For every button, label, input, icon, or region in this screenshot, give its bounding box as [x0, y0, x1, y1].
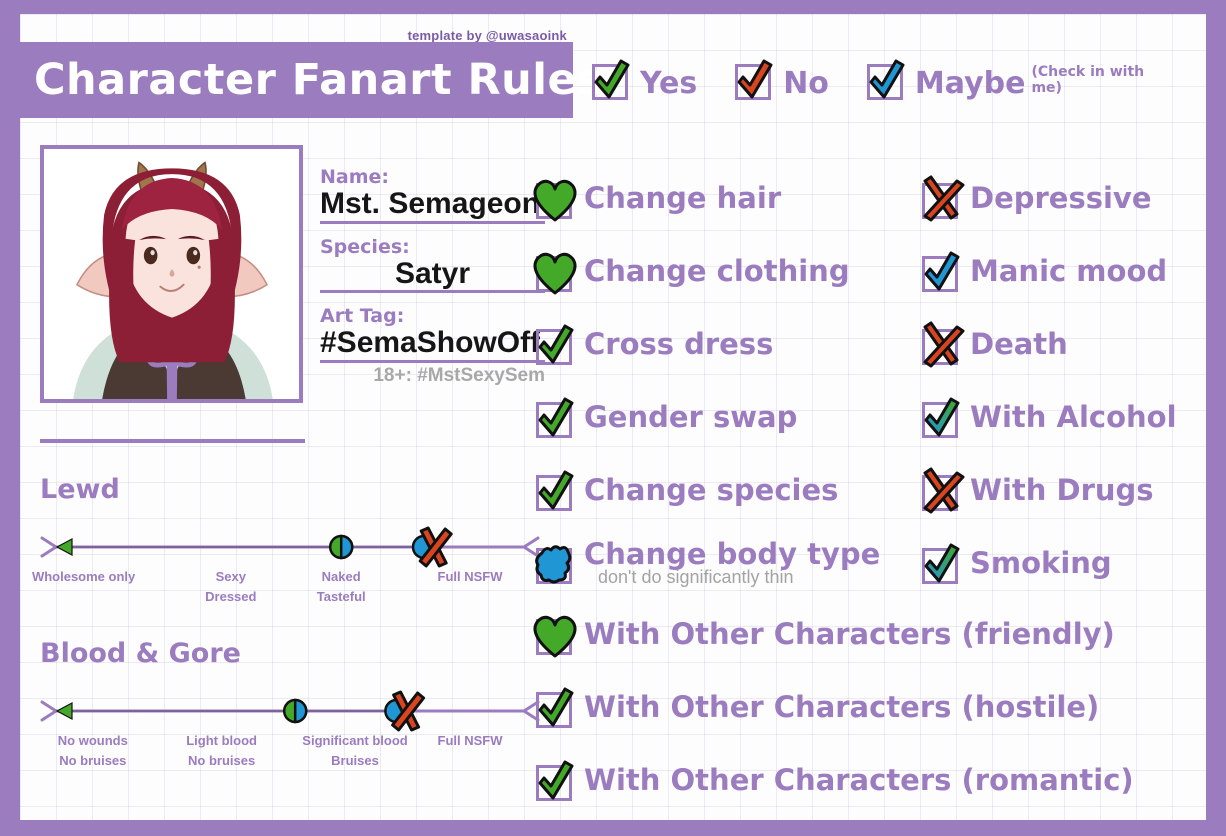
portrait-illustration [44, 149, 299, 399]
slider-tick-label: Sexy [216, 569, 246, 584]
mark-heart-icon [532, 176, 578, 222]
slider-track[interactable] [40, 691, 540, 731]
checklist-label: Change species [584, 475, 838, 505]
field-species: Species: Satyr [320, 236, 545, 294]
legend: YesNoMaybe(Check in with me) [588, 44, 1206, 116]
mark-check [731, 57, 777, 103]
mark-check-icon [863, 57, 909, 103]
checklist-label: Gender swap [584, 402, 797, 432]
checklist-label: With Alcohol [970, 402, 1177, 432]
checklist-item[interactable]: Change body typedon't do significantly t… [532, 527, 922, 600]
checklist-item[interactable]: With Drugs [918, 454, 1226, 527]
mark-heart-icon [532, 612, 578, 658]
slider-lewd: LewdWholesome onlySexyDressedNakedTastef… [40, 474, 540, 613]
mark-heart [532, 249, 578, 295]
page-title: Character Fanart Rules [20, 55, 603, 105]
checklist-text: With Other Characters (romantic) [584, 765, 1134, 795]
checklist-item[interactable]: Change species [532, 454, 922, 527]
legend-note: (Check in with me) [1031, 64, 1172, 96]
checklist-item[interactable]: With Other Characters (friendly) [532, 598, 1226, 671]
checklist-label: Depressive [970, 183, 1152, 213]
checklist-text: Cross dress [584, 329, 773, 359]
nsfw-tag: 18+: #MstSexySem [320, 365, 545, 387]
mark-check-icon [731, 57, 777, 103]
checklist-text: With Drugs [970, 475, 1154, 505]
checklist-column-left: Change hairChange clothingCross dressGen… [532, 162, 922, 600]
mark-check [863, 57, 909, 103]
mark-check [532, 685, 578, 731]
mark-heart [532, 176, 578, 222]
mark-cross-icon [918, 176, 964, 222]
slider-tick-label-second: Dressed [205, 589, 256, 604]
checklist-label: Change clothing [584, 256, 850, 286]
checklist-column-wide: With Other Characters (friendly)With Oth… [532, 598, 1226, 817]
name-value: Mst. Semageon [320, 188, 545, 224]
checklist-item[interactable]: Smoking [918, 527, 1226, 600]
mark-heart-icon [532, 249, 578, 295]
mark-cross-icon [918, 468, 964, 514]
slider-axis [40, 691, 540, 731]
checklist-text: Change body typedon't do significantly t… [584, 539, 880, 587]
slider-tick-label-second: Tasteful [317, 589, 366, 604]
mark-check [532, 322, 578, 368]
slider-title: Blood & Gore [40, 638, 540, 669]
checklist-text: With Other Characters (friendly) [584, 619, 1115, 649]
mark-check-icon [532, 322, 578, 368]
slider-tick-label-second: No bruises [188, 753, 255, 768]
mark-check-gradient [918, 541, 964, 587]
checklist-label: With Other Characters (romantic) [584, 765, 1134, 795]
mark-blob [532, 541, 578, 587]
mark-check-icon [532, 685, 578, 731]
checklist-item[interactable]: Depressive [918, 162, 1226, 235]
mark-check [532, 395, 578, 441]
slider-tick-label: Full NSFW [438, 733, 503, 748]
legend-item-yes: Yes [588, 57, 697, 103]
slider-tick-label: Light blood [186, 733, 257, 748]
mark-cross [918, 322, 964, 368]
slider-tick-label: Wholesome only [32, 569, 135, 584]
checklist-label: Death [970, 329, 1068, 359]
checklist-text: Death [970, 329, 1068, 359]
page-background: template by @uwasaoink Character Fanart … [20, 14, 1206, 820]
checklist-item[interactable]: Gender swap [532, 381, 922, 454]
mark-check [532, 758, 578, 804]
checklist-item[interactable]: Change hair [532, 162, 922, 235]
slider-tick-label: Naked [322, 569, 361, 584]
checklist-label: Cross dress [584, 329, 773, 359]
checklist-label: With Other Characters (friendly) [584, 619, 1115, 649]
legend-label: Yes [640, 69, 697, 99]
checklist-item[interactable]: With Other Characters (hostile) [532, 671, 1226, 744]
checklist-label: Manic mood [970, 256, 1167, 286]
checklist-item[interactable]: With Other Characters (romantic) [532, 744, 1226, 817]
mark-cross [918, 468, 964, 514]
title-banner: Character Fanart Rules [20, 42, 573, 118]
checklist-label: Change body type [584, 539, 880, 569]
field-name: Name: Mst. Semageon [320, 166, 545, 224]
mark-check-icon [532, 468, 578, 514]
mark-cross-icon [918, 322, 964, 368]
fanart-rules-sheet: template by @uwasaoink Character Fanart … [0, 0, 1226, 836]
slider-blood-gore: Blood & GoreNo woundsNo bruisesLight blo… [40, 638, 540, 777]
character-info: Name: Mst. Semageon Species: Satyr Art T… [320, 166, 545, 393]
slider-tick-label: Full NSFW [438, 569, 503, 584]
mark-check-gradient [918, 395, 964, 441]
slider-title: Lewd [40, 474, 540, 505]
checklist-label: Change hair [584, 183, 781, 213]
legend-label: Maybe [915, 69, 1026, 99]
checklist-text: Change hair [584, 183, 781, 213]
slider-tick-label-second: No bruises [59, 753, 126, 768]
mark-check-icon [532, 395, 578, 441]
legend-item-no: No [731, 57, 829, 103]
checklist-item[interactable]: Death [918, 308, 1226, 381]
checklist-text: Change species [584, 475, 838, 505]
mark-check-icon [588, 57, 634, 103]
checklist-text: Depressive [970, 183, 1152, 213]
legend-item-maybe: Maybe(Check in with me) [863, 57, 1172, 103]
checklist-text: Gender swap [584, 402, 797, 432]
species-value: Satyr [320, 258, 545, 294]
mark-check [918, 249, 964, 295]
checklist-item[interactable]: Change clothing [532, 235, 922, 308]
slider-track[interactable] [40, 527, 540, 567]
checklist-item[interactable]: With Alcohol [918, 381, 1226, 454]
checklist-text: Manic mood [970, 256, 1167, 286]
mark-check-icon [532, 758, 578, 804]
species-label: Species: [320, 236, 545, 258]
mark-check-gradient-icon [918, 541, 964, 587]
checklist-item[interactable]: Cross dress [532, 308, 922, 381]
field-art-tag: Art Tag: #SemaShowOff 18+: #MstSexySem [320, 305, 545, 387]
mark-cross [918, 176, 964, 222]
slider-tick-label: Significant blood [302, 733, 407, 748]
checklist-text: Smoking [970, 548, 1112, 578]
character-portrait [40, 145, 303, 403]
checklist-text: With Alcohol [970, 402, 1177, 432]
checklist-item[interactable]: Manic mood [918, 235, 1226, 308]
slider-scale-labels: Wholesome onlySexyDressedNakedTastefulFu… [40, 569, 540, 613]
slider-tick-label: No wounds [58, 733, 128, 748]
mark-check [588, 57, 634, 103]
checklist-column-right: DepressiveManic moodDeathWith AlcoholWit… [918, 162, 1226, 600]
arttag-label: Art Tag: [320, 305, 545, 327]
checklist-label: With Drugs [970, 475, 1154, 505]
mark-check-gradient-icon [918, 395, 964, 441]
checklist-text: Change clothing [584, 256, 850, 286]
slider-tick-label-second: Bruises [331, 753, 379, 768]
checklist-label: With Other Characters (hostile) [584, 692, 1099, 722]
slider-axis [40, 527, 540, 567]
mark-heart [532, 612, 578, 658]
mark-blob-icon [532, 541, 578, 587]
checklist-text: With Other Characters (hostile) [584, 692, 1099, 722]
mark-check [532, 468, 578, 514]
checklist-label: Smoking [970, 548, 1112, 578]
legend-label: No [783, 69, 829, 99]
name-label: Name: [320, 166, 545, 188]
template-credit: template by @uwasaoink [20, 28, 573, 43]
slider-scale-labels: No woundsNo bruisesLight bloodNo bruises… [40, 733, 540, 777]
arttag-value: #SemaShowOff [320, 327, 545, 363]
section-divider [40, 439, 305, 443]
mark-check-icon [918, 249, 964, 295]
